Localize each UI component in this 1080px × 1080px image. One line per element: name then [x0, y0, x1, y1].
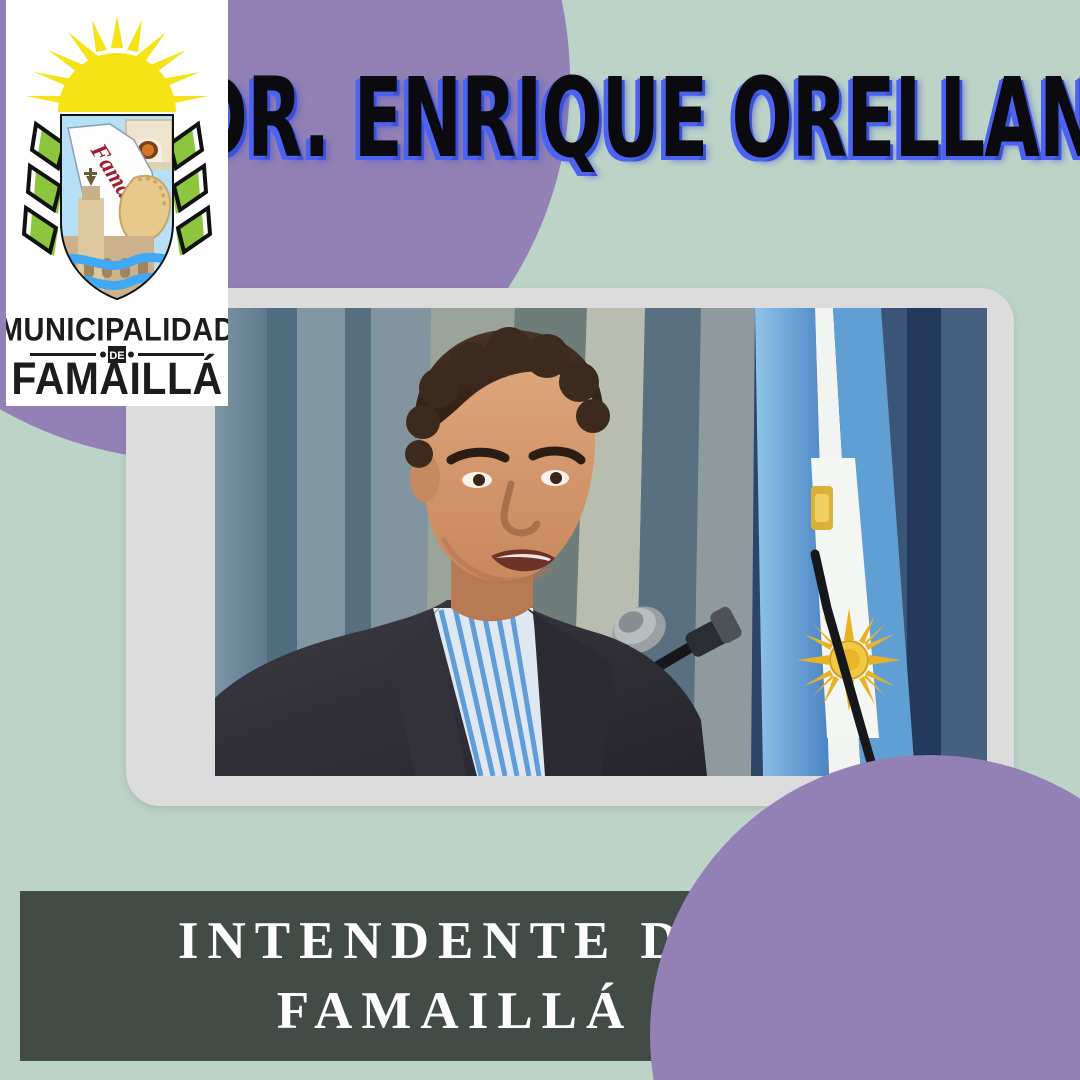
title-container: DR. ENRIQUE ORELLANA — [276, 64, 1066, 174]
role-banner-line-2: FAMAILLÁ — [277, 976, 634, 1046]
municipality-logo-card: Famaillá — [6, 0, 228, 406]
logo-org-line2: FAMAILLÁ — [11, 354, 222, 404]
portrait-photo — [215, 308, 987, 776]
role-banner-line-1: INTENDENTE DE — [178, 906, 732, 976]
page-title: DR. ENRIQUE ORELLANA — [189, 64, 1080, 174]
poster-canvas: DR. ENRIQUE ORELLANA — [0, 0, 1080, 1080]
logo-org-line1: MUNICIPALIDAD — [6, 311, 228, 348]
